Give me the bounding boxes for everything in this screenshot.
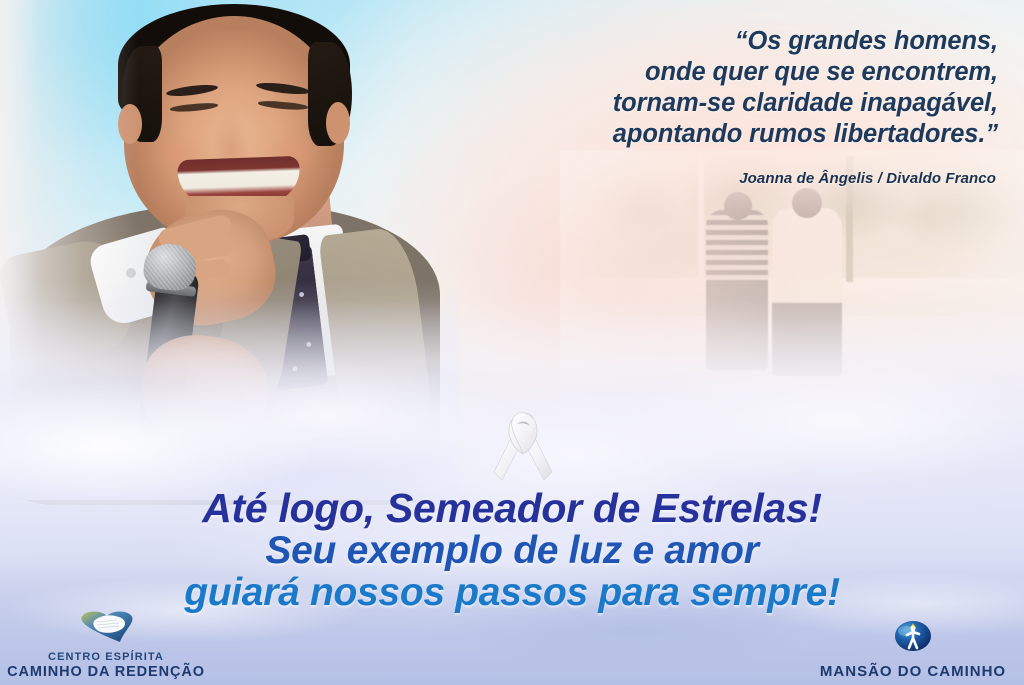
headline-line-2: Seu exemplo de luz e amor <box>0 530 1024 572</box>
memorial-poster: “Os grandes homens, onde quer que se enc… <box>0 0 1024 685</box>
globe-figure-flame-logo-icon <box>808 614 1018 661</box>
centro-espirita-logo-line-2: CAMINHO DA REDENÇÃO <box>6 664 206 681</box>
centro-espirita-logo: CENTRO ESPÍRITA CAMINHO DA REDENÇÃO <box>6 610 206 681</box>
headline-line-3: guiará nossos passos para sempre! <box>0 572 1024 614</box>
heart-hands-logo-icon <box>6 610 206 649</box>
quote-line-3: tornam-se claridade inapagável, <box>438 88 998 119</box>
headline-line-1: Até logo, Semeador de Estrelas! <box>0 486 1024 530</box>
centro-espirita-logo-line-1: CENTRO ESPÍRITA <box>6 651 206 664</box>
quote-attribution: Joanna de Ângelis / Divaldo Franco <box>436 170 996 187</box>
quote-line-4: apontando rumos libertadores.” <box>438 119 998 150</box>
quote-block: “Os grandes homens, onde quer que se enc… <box>438 26 998 150</box>
headline-block: Até logo, Semeador de Estrelas! Seu exem… <box>0 486 1024 614</box>
quote-line-2: onde quer que se encontrem, <box>438 57 998 88</box>
quote-line-1: “Os grandes homens, <box>438 26 998 57</box>
white-mourning-ribbon-icon <box>492 410 554 482</box>
mansao-do-caminho-logo-label: MANSÃO DO CAMINHO <box>808 663 1018 681</box>
mansao-do-caminho-logo: MANSÃO DO CAMINHO <box>808 614 1018 681</box>
